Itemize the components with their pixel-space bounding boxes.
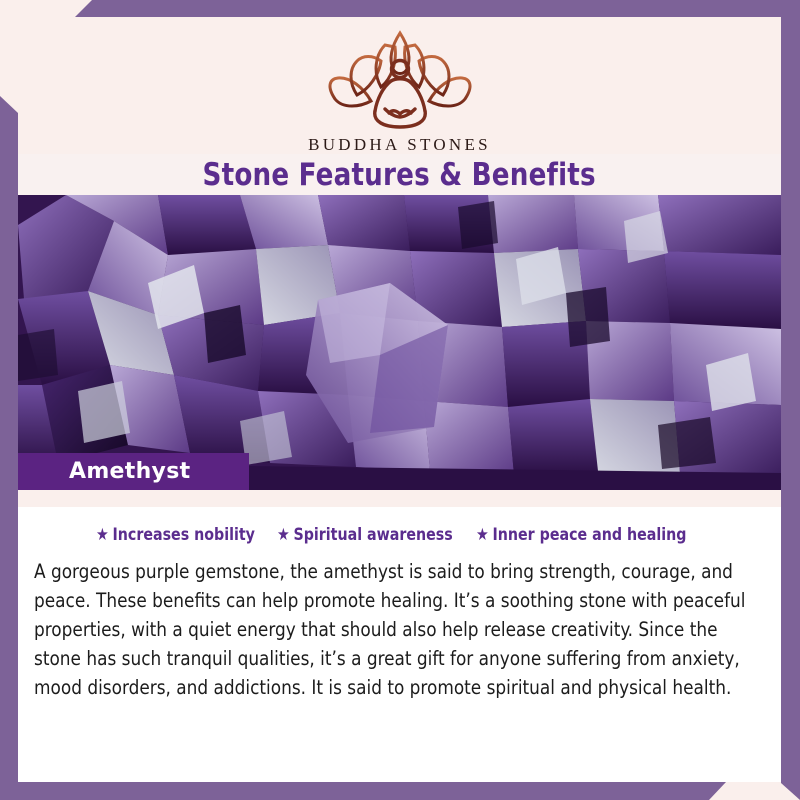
border-band-bottom	[0, 782, 800, 800]
stone-name-banner: Amethyst	[18, 453, 249, 490]
benefit-item: ★ Increases nobility	[96, 525, 255, 545]
star-icon: ★	[277, 527, 290, 544]
card-inner: BUDDHA STONES Stone Features & Benefits	[18, 17, 781, 782]
border-band-left	[0, 0, 18, 800]
border-band-right	[781, 0, 800, 800]
stone-details: ★ Increases nobility ★ Spiritual awarene…	[18, 507, 781, 782]
lotus-meditation-figure-icon	[305, 25, 495, 133]
benefit-label: Spiritual awareness	[294, 525, 453, 545]
brand-logo: BUDDHA STONES	[18, 25, 781, 155]
stone-name: Amethyst	[69, 459, 190, 484]
divider-strip	[18, 490, 781, 507]
section-title-bar: Stone Features & Benefits	[18, 154, 781, 195]
stone-description: A gorgeous purple gemstone, the amethyst…	[34, 557, 748, 702]
benefits-list: ★ Increases nobility ★ Spiritual awarene…	[18, 507, 781, 545]
brand-name: BUDDHA STONES	[18, 135, 781, 155]
stone-photo	[18, 195, 781, 490]
product-info-card: BUDDHA STONES Stone Features & Benefits	[0, 0, 800, 800]
benefit-label: Increases nobility	[113, 525, 255, 545]
benefit-item: ★ Inner peace and healing	[476, 525, 686, 545]
star-icon: ★	[96, 527, 109, 544]
page-title: Stone Features & Benefits	[203, 157, 596, 193]
benefit-label: Inner peace and healing	[493, 525, 687, 545]
amethyst-crystal-cluster-photo	[18, 195, 781, 490]
benefit-item: ★ Spiritual awareness	[277, 525, 453, 545]
border-band-top	[0, 0, 800, 17]
star-icon: ★	[476, 527, 489, 544]
